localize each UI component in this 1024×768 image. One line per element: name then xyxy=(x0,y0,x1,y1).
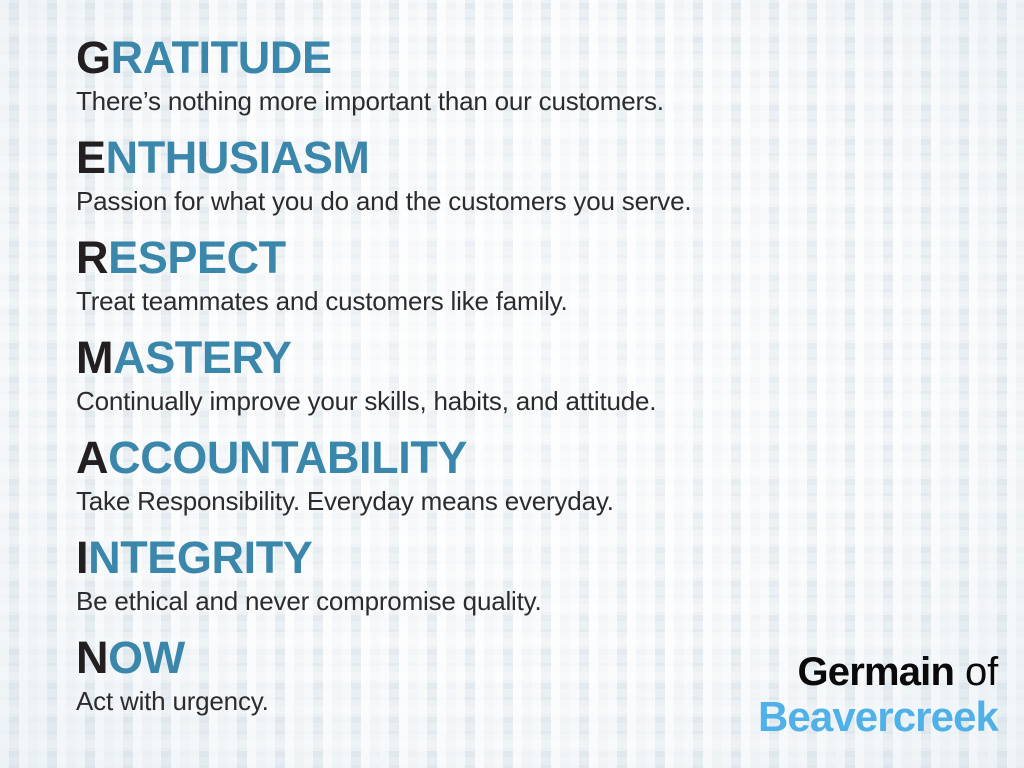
value-description: Take Responsibility. Everyday means ever… xyxy=(76,483,1006,517)
value-description: Passion for what you do and the customer… xyxy=(76,183,1006,217)
value-heading-remainder: NTEGRITY xyxy=(88,532,312,583)
value-item-mastery: MASTERY Continually improve your skills,… xyxy=(76,333,1006,433)
value-initial-letter: R xyxy=(76,232,108,283)
value-description: Treat teammates and customers like famil… xyxy=(76,283,1006,317)
value-initial-letter: G xyxy=(76,32,111,83)
value-description: Be ethical and never compromise quality. xyxy=(76,583,1006,617)
value-heading-remainder: RATITUDE xyxy=(111,32,332,83)
value-heading: ACCOUNTABILITY xyxy=(76,433,1006,483)
value-heading: INTEGRITY xyxy=(76,533,1006,583)
value-initial-letter: A xyxy=(76,432,108,483)
value-heading: RESPECT xyxy=(76,233,1006,283)
value-description: Continually improve your skills, habits,… xyxy=(76,383,1006,417)
value-heading: MASTERY xyxy=(76,333,1006,383)
logo-brand-name: Germain xyxy=(797,650,954,694)
value-heading: GRATITUDE xyxy=(76,33,1006,83)
value-heading-remainder: CCOUNTABILITY xyxy=(108,432,467,483)
dealership-logo: Germain of Beavercreek xyxy=(758,650,998,740)
logo-location-name: Beavercreek xyxy=(758,694,998,740)
poster-content: GRATITUDE There’s nothing more important… xyxy=(0,0,1024,768)
value-item-gratitude: GRATITUDE There’s nothing more important… xyxy=(76,33,1006,133)
value-heading-remainder: ASTERY xyxy=(113,332,291,383)
value-item-enthusiasm: ENTHUSIASM Passion for what you do and t… xyxy=(76,133,1006,233)
value-initial-letter: M xyxy=(76,332,113,383)
value-heading-remainder: ESPECT xyxy=(108,232,286,283)
value-initial-letter: N xyxy=(76,632,108,683)
value-item-accountability: ACCOUNTABILITY Take Responsibility. Ever… xyxy=(76,433,1006,533)
logo-connector-word: of xyxy=(954,650,998,694)
values-poster: GRATITUDE There’s nothing more important… xyxy=(0,0,1024,768)
value-initial-letter: E xyxy=(76,132,106,183)
value-item-respect: RESPECT Treat teammates and customers li… xyxy=(76,233,1006,333)
core-values-list: GRATITUDE There’s nothing more important… xyxy=(76,33,1006,733)
value-heading-remainder: NTHUSIASM xyxy=(106,132,370,183)
logo-primary-line: Germain of xyxy=(758,650,998,694)
value-heading-remainder: OW xyxy=(108,632,185,683)
value-item-integrity: INTEGRITY Be ethical and never compromis… xyxy=(76,533,1006,633)
value-description: There’s nothing more important than our … xyxy=(76,83,1006,117)
value-heading: ENTHUSIASM xyxy=(76,133,1006,183)
value-initial-letter: I xyxy=(76,532,88,583)
